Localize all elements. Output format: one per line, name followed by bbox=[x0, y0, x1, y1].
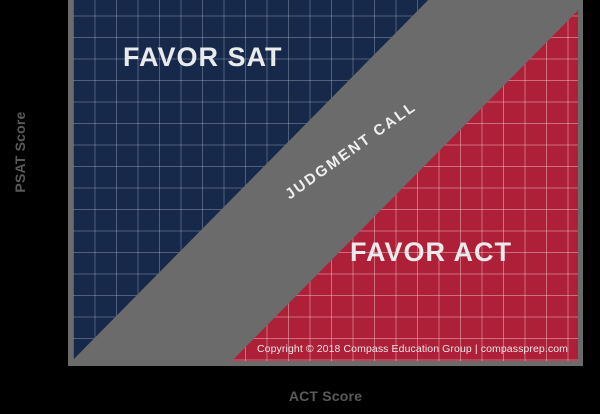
chart-figure: PSAT Score JUDGMENT CALL FAVOR SAT FAVOR… bbox=[0, 0, 600, 414]
y-axis-label: PSAT Score bbox=[8, 92, 32, 212]
plot-area: JUDGMENT CALL FAVOR SAT FAVOR ACT Copyri… bbox=[73, 0, 578, 361]
plot-frame: JUDGMENT CALL FAVOR SAT FAVOR ACT Copyri… bbox=[68, 0, 583, 366]
x-axis-label: ACT Score bbox=[68, 388, 583, 404]
